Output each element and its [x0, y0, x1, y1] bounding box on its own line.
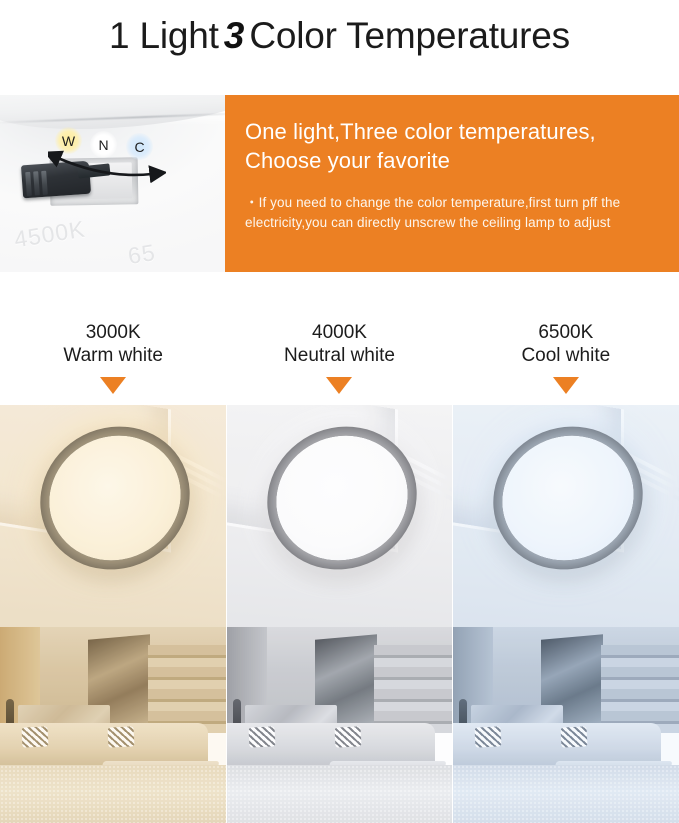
temperature-name-cool: Cool white: [521, 344, 610, 368]
lamp-diffuser-neutral: [273, 429, 411, 567]
cushion-neutral-1: [248, 726, 275, 747]
banner-heading-line-1: One light,Three color temperatures,: [245, 117, 659, 146]
pointer-triangle-icon-warm: [100, 377, 126, 394]
furniture-cool: [453, 705, 679, 823]
double-arrow-icon: [48, 147, 166, 183]
rug-cool: [453, 765, 679, 823]
banner-heading: One light,Three color temperatures, Choo…: [245, 117, 659, 176]
kelvin-value-warm: 3000K: [86, 322, 141, 344]
orange-info-banner: One light,Three color temperatures, Choo…: [225, 95, 679, 272]
cushion-neutral-2: [334, 726, 361, 747]
room-photo-warm-white: [0, 405, 226, 823]
lamp-diffuser-cool: [499, 429, 637, 567]
page-title: 1 Light 3 Color Temperatures: [0, 0, 679, 72]
temperature-label-cool: 6500K Cool white: [453, 272, 679, 405]
title-part-two: Color Temperatures: [249, 15, 570, 57]
rug-warm: [0, 765, 226, 823]
room-photos-row: [0, 405, 679, 823]
furniture-neutral: [227, 705, 453, 823]
lamp-diffuser-warm: [46, 429, 184, 567]
kelvin-value-neutral: 4000K: [312, 322, 367, 344]
temperature-labels-row: 3000K Warm white 4000K Neutral white 650…: [0, 272, 679, 405]
temperature-label-warm: 3000K Warm white: [0, 272, 226, 405]
cushion-cool-1: [475, 726, 502, 747]
banner-heading-line-2: Choose your favorite: [245, 146, 659, 175]
cushion-warm-2: [107, 726, 134, 747]
pointer-triangle-icon-cool: [553, 377, 579, 394]
banner-body-text: ・If you need to change the color tempera…: [245, 193, 659, 235]
room-photo-cool-white: [452, 405, 679, 823]
temperature-label-neutral: 4000K Neutral white: [226, 272, 452, 405]
title-highlight-number: 3: [219, 15, 250, 57]
cushion-cool-2: [561, 726, 588, 747]
banner-section: W N C 4500K 65 One light,Three color tem…: [0, 95, 679, 272]
room-photo-neutral-white: [226, 405, 453, 823]
title-part-one: 1 Light: [109, 15, 219, 57]
kelvin-value-cool: 6500K: [538, 322, 593, 344]
temperature-name-neutral: Neutral white: [284, 344, 395, 368]
rug-neutral: [227, 765, 453, 823]
embossed-kelvin-text-1: 4500K: [12, 216, 87, 254]
color-switch-photo: W N C 4500K 65: [0, 95, 225, 272]
cushion-warm-1: [21, 726, 48, 747]
pointer-triangle-icon-neutral: [326, 377, 352, 394]
furniture-warm: [0, 705, 226, 823]
temperature-name-warm: Warm white: [63, 344, 163, 368]
embossed-kelvin-text-2: 65: [126, 239, 157, 270]
